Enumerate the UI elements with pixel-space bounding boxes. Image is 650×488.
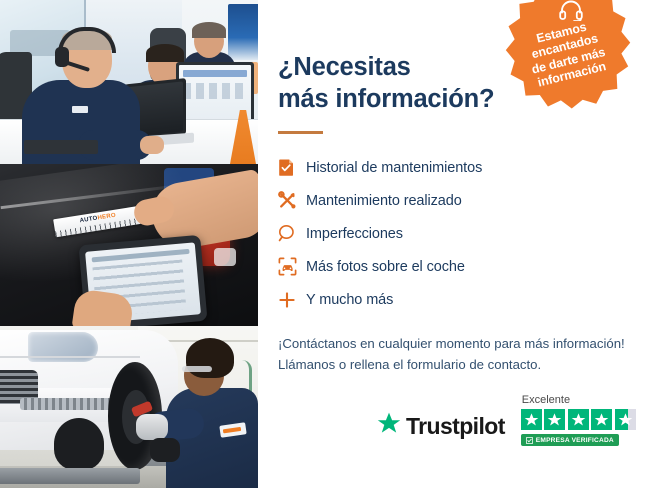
feature-label: Historial de mantenimientos (306, 160, 482, 176)
clipboard-check-icon (278, 158, 306, 177)
title-divider (278, 131, 323, 134)
magnifier-icon (278, 224, 306, 243)
star-3 (568, 409, 589, 430)
contact-text: ¡Contáctanos en cualquier momento para m… (278, 334, 628, 375)
feature-item-historial: Historial de mantenimientos (278, 151, 650, 184)
photo3-air-vent (20, 398, 116, 410)
photo1-name-badge (72, 106, 88, 113)
info-starburst-badge: Estamos encantados de darte más informac… (499, 0, 635, 114)
photo3-car-lift (0, 468, 140, 484)
trustpilot-logo[interactable]: Trustpilot (377, 412, 505, 440)
mechanic-wheel-photo (0, 326, 258, 488)
photo3-mechanic-glove (136, 414, 168, 440)
verified-business-label: EMPRESA VERIFICADA (536, 437, 614, 444)
feature-label: Más fotos sobre el coche (306, 259, 465, 275)
photo1-person-mid-hair (146, 44, 184, 62)
photo3-mechanic (166, 338, 258, 488)
photo3-safety-glasses (182, 366, 212, 372)
star-5-partial (615, 409, 636, 430)
call-center-agents-photo (0, 0, 258, 164)
wrench-screwdriver-icon (278, 191, 306, 210)
feature-item-mantenimiento: Mantenimiento realizado (278, 184, 650, 217)
page-title: ¿Necesitas más información? (278, 52, 508, 115)
photo3-mechanic-glove-lower (150, 438, 180, 462)
feature-label: Imperfecciones (306, 226, 403, 242)
star-1 (521, 409, 542, 430)
photo1-keyboard (24, 140, 98, 154)
trustpilot-rating-block: Excelente (521, 394, 636, 446)
trustpilot-stars (521, 409, 636, 430)
feature-label: Mantenimiento realizado (306, 193, 462, 209)
trustpilot-widget[interactable]: Trustpilot Excelente (377, 394, 636, 446)
info-promo-banner: AUTOHERO (0, 0, 650, 488)
contact-text-line-2: Llámanos o rellena el formulario de cont… (278, 355, 628, 375)
photo1-person-far-hair (192, 22, 226, 38)
trustpilot-star-icon (377, 412, 401, 440)
photo3-hood-line (0, 356, 140, 358)
feature-item-fotos: Más fotos sobre el coche (278, 250, 650, 283)
content-panel: ¿Necesitas más información? Historial de… (258, 0, 650, 488)
verified-business-badge: EMPRESA VERIFICADA (521, 434, 619, 446)
photo-column: AUTOHERO (0, 0, 258, 488)
photo1-person-main-hand (140, 136, 164, 154)
feature-list: Historial de mantenimientos Mantenimient… (278, 151, 650, 316)
page-title-line-2: más información? (278, 84, 508, 116)
check-square-icon (526, 437, 533, 444)
plus-icon (278, 291, 306, 309)
trustpilot-wordmark: Trustpilot (406, 413, 505, 440)
photo2-taillight-reverse (214, 248, 236, 266)
vehicle-inspection-photo: AUTOHERO (0, 164, 258, 326)
badge-text: Estamos encantados de darte más informac… (524, 17, 611, 91)
star-2 (544, 409, 565, 430)
feature-item-mucho-mas: Y mucho más (278, 283, 650, 316)
trustpilot-rating-label: Excelente (522, 394, 570, 406)
badge-content: Estamos encantados de darte más informac… (499, 0, 635, 114)
car-scan-icon (278, 257, 306, 276)
photo3-mechanic-hair (186, 338, 234, 378)
feature-item-imperfecciones: Imperfecciones (278, 217, 650, 250)
photo3-rear-wheel (54, 418, 104, 470)
feature-label: Y mucho más (306, 292, 393, 308)
star-4 (591, 409, 612, 430)
page-title-line-1: ¿Necesitas (278, 52, 508, 84)
contact-text-line-1: ¡Contáctanos en cualquier momento para m… (278, 334, 628, 354)
